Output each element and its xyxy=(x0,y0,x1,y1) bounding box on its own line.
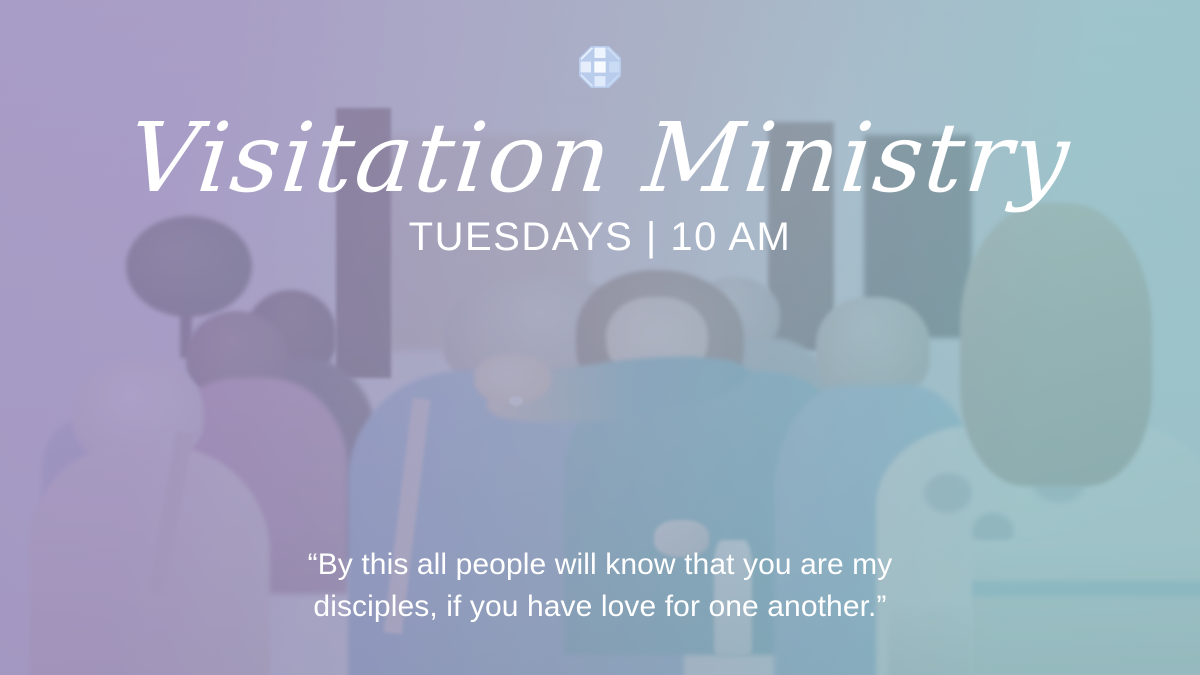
event-announcement-slide: Visitation Ministry TUESDAYS | 10 AM “By… xyxy=(0,0,1200,675)
quote-line-two: disciples, if you have love for one anot… xyxy=(313,590,886,623)
octagon-emblem-icon xyxy=(577,44,623,90)
scripture-quote: “By this all people will know that you a… xyxy=(0,544,1200,629)
slide-content: Visitation Ministry TUESDAYS | 10 AM “By… xyxy=(0,0,1200,675)
quote-line-one: “By this all people will know that you a… xyxy=(308,548,893,581)
page-title: Visitation Ministry xyxy=(124,108,1076,209)
event-schedule: TUESDAYS | 10 AM xyxy=(409,215,792,260)
